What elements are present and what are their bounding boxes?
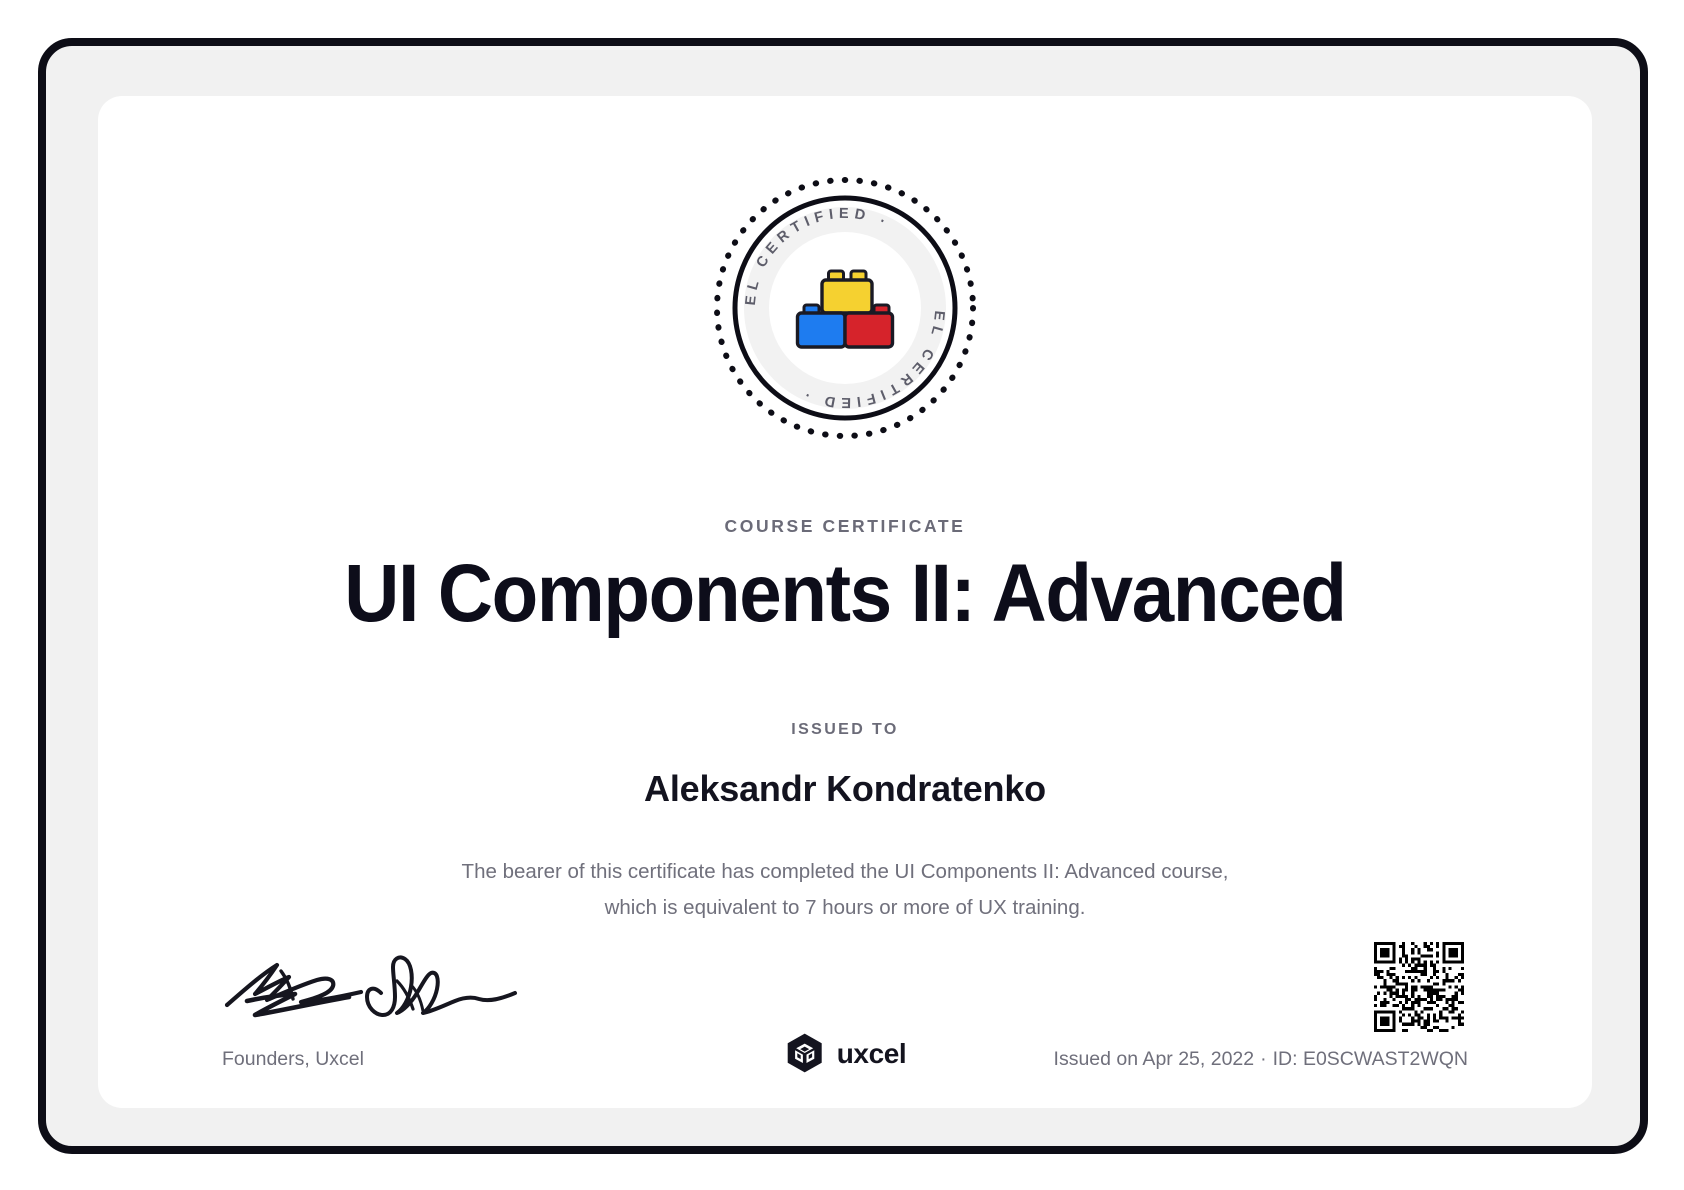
certificate-type-label: COURSE CERTIFICATE <box>98 516 1592 537</box>
issue-date: Issued on Apr 25, 2022 <box>1054 1048 1255 1070</box>
founders-label: Founders, Uxcel <box>222 1048 364 1071</box>
uxcel-wordmark: uxcel <box>837 1040 907 1068</box>
issue-info: Issued on Apr 25, 2022·ID: E0SCWAST2WQN <box>1054 1048 1468 1071</box>
course-title: UI Components II: Advanced <box>150 549 1539 639</box>
uxcel-logo[interactable]: uxcel <box>784 1032 907 1074</box>
certificate-card: UXCEL CERTIFIED · UXCEL CERTIFIED · <box>98 96 1592 1108</box>
founders-signatures <box>221 941 521 1021</box>
uxcel-certified-badge: UXCEL CERTIFIED · UXCEL CERTIFIED · <box>711 174 979 442</box>
signature-icon <box>221 941 521 1021</box>
badge-icon: UXCEL CERTIFIED · UXCEL CERTIFIED · <box>711 174 979 442</box>
credential-qr-code[interactable] <box>1374 942 1464 1032</box>
issue-separator: · <box>1254 1048 1273 1070</box>
certificate-description: The bearer of this certificate has compl… <box>450 854 1240 926</box>
certificate-page: UXCEL CERTIFIED · UXCEL CERTIFIED · <box>0 0 1684 1190</box>
issued-to-label: ISSUED TO <box>98 721 1592 739</box>
certificate-outer-frame: UXCEL CERTIFIED · UXCEL CERTIFIED · <box>38 38 1648 1154</box>
recipient-name: Aleksandr Kondratenko <box>98 768 1592 810</box>
uxcel-hexagon-cube-icon <box>784 1032 826 1074</box>
credential-id: ID: E0SCWAST2WQN <box>1273 1048 1468 1070</box>
qr-code-icon <box>1374 942 1464 1032</box>
